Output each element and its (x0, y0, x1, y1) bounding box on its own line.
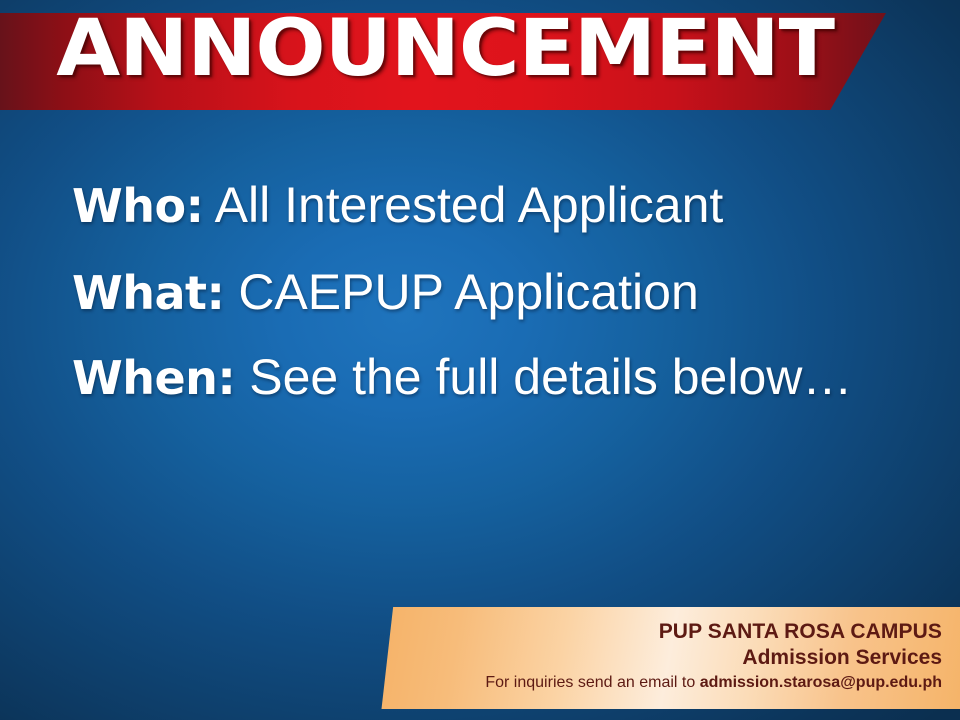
detail-value-when: See the full details below… (235, 349, 852, 405)
detail-label-what: What: (72, 266, 224, 320)
footer-banner (378, 607, 960, 709)
detail-line-what: What: CAEPUP Application (72, 249, 922, 336)
detail-value-who: All Interested Applicant (204, 177, 724, 233)
header-banner (0, 13, 886, 110)
announcement-slide: ANNOUNCEMENT Who: All Interested Applica… (0, 0, 960, 720)
detail-line-who: Who: All Interested Applicant (72, 162, 922, 249)
announcement-details: Who: All Interested Applicant What: CAEP… (72, 162, 922, 419)
detail-line-when: When: See the full details below… (72, 336, 922, 419)
detail-label-when: When: (72, 351, 235, 405)
detail-label-who: Who: (72, 179, 204, 233)
detail-value-what: CAEPUP Application (224, 264, 698, 320)
